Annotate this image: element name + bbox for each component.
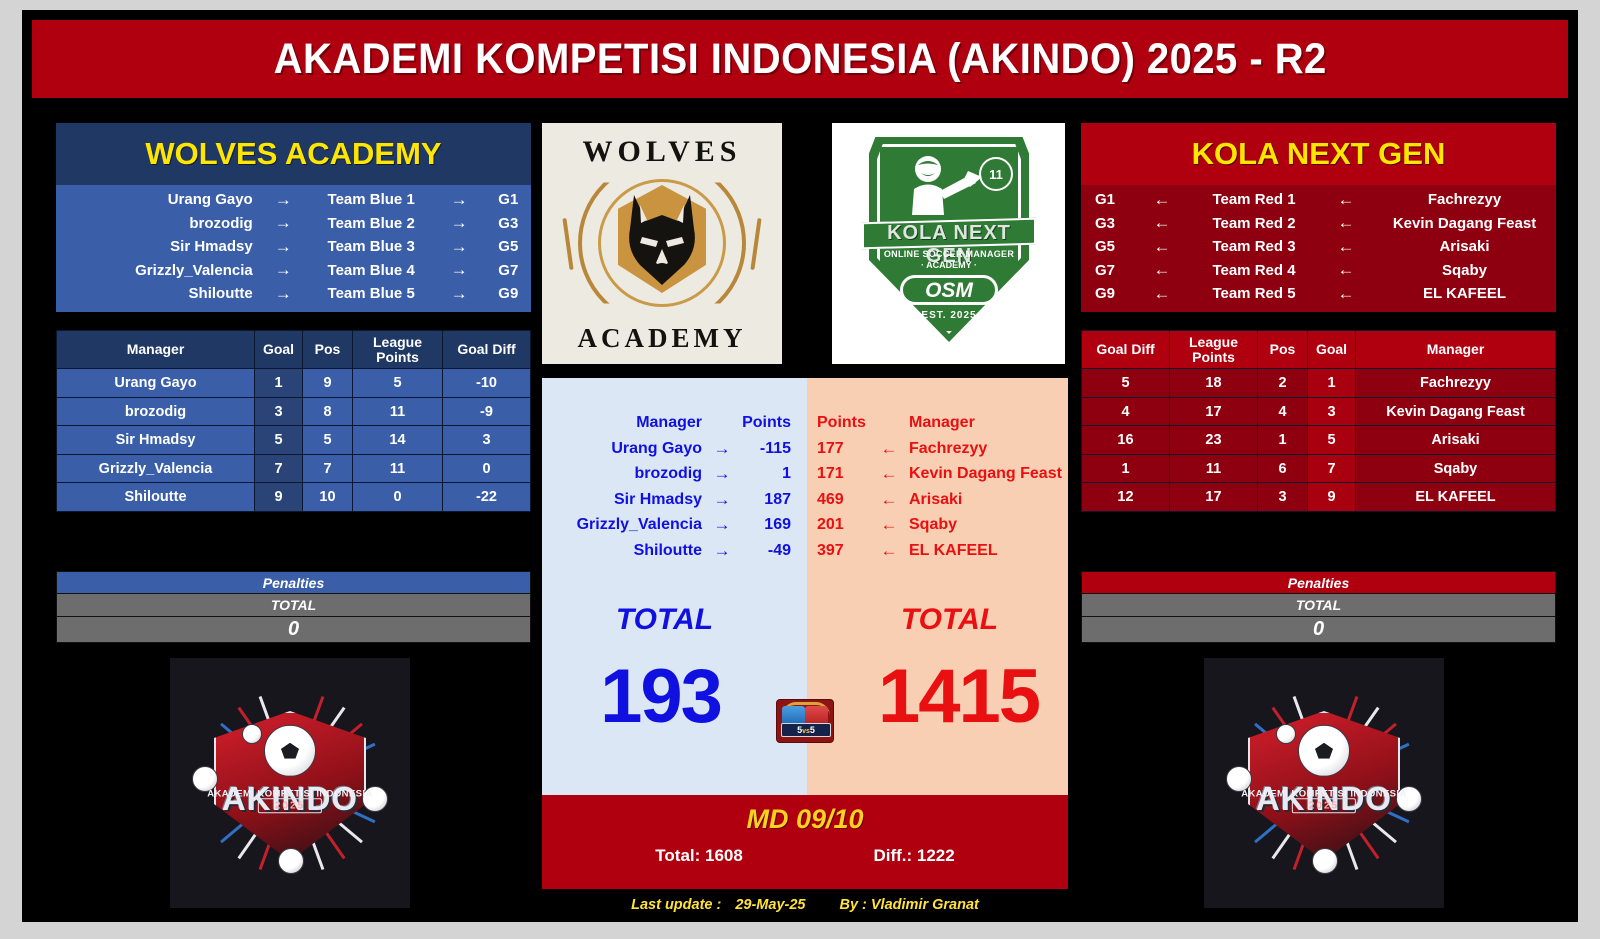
arrow-left-icon: ← — [869, 541, 909, 561]
center-left-half: Manager Points Urang Gayo → -115 brozodi… — [542, 378, 807, 795]
col-pos: Pos — [1258, 331, 1308, 369]
arrow-right-icon: → — [433, 237, 486, 257]
cell-goal-diff: 4 — [1082, 397, 1170, 426]
row-points: 187 — [742, 491, 799, 509]
row-manager: Sqaby — [909, 516, 1068, 534]
center-right-row: 201 ← Sqaby — [807, 513, 1068, 539]
arrow-right-icon: → — [433, 260, 486, 280]
lineup-row: G9 ← Team Red 5 ← EL KAFEEL — [1081, 282, 1556, 306]
cell-goal-diff: 1 — [1082, 454, 1170, 483]
cell-goal-diff: -9 — [443, 397, 531, 426]
lineup-row: Shiloutte → Team Blue 5 → G9 — [56, 282, 531, 306]
cell-manager: Fachrezyy — [1356, 369, 1556, 398]
lineup-slot: Team Blue 2 — [310, 215, 433, 232]
cell-league-points: 18 — [1170, 369, 1258, 398]
arrow-left-icon: ← — [1319, 237, 1373, 257]
cell-goal: 3 — [1308, 397, 1356, 426]
lineup-row: G5 ← Team Red 3 ← Arisaki — [1081, 235, 1556, 259]
left-total-label: TOTAL — [542, 603, 807, 637]
center-right-row: 177 ← Fachrezyy — [807, 436, 1068, 462]
center-right-row: 397 ← EL KAFEEL — [807, 538, 1068, 564]
table-row: brozodig 3 8 11 -9 — [57, 397, 531, 426]
lineup-code: G5 — [486, 238, 531, 255]
player-number-badge: 11 — [979, 157, 1013, 191]
row-points: 469 — [807, 491, 869, 509]
lineup-row: brozodig → Team Blue 2 → G3 — [56, 212, 531, 236]
lineup-row: G1 ← Team Red 1 ← Fachrezyy — [1081, 188, 1556, 212]
left-penalties-panel: Penalties TOTAL 0 — [56, 571, 531, 643]
lineup-row: G7 ← Team Red 4 ← Sqaby — [1081, 259, 1556, 283]
cell-goal-diff: -22 — [443, 483, 531, 512]
cell-goal: 5 — [1308, 426, 1356, 455]
row-points: 171 — [807, 465, 869, 483]
lineup-slot: Team Blue 1 — [310, 191, 433, 208]
lineup-slot: Team Blue 3 — [310, 238, 433, 255]
left-team-lineup-panel: WOLVES ACADEMY Urang Gayo → Team Blue 1 … — [56, 123, 531, 312]
cell-manager: Shiloutte — [57, 483, 255, 512]
arrow-left-icon: ← — [1319, 284, 1373, 304]
last-update-group: Last update : 29-May-25 — [631, 897, 805, 913]
arrow-right-icon: → — [702, 490, 742, 510]
penalties-total-value: 0 — [56, 617, 531, 643]
arrow-left-icon: ← — [869, 490, 909, 510]
cell-pos: 1 — [1258, 426, 1308, 455]
kola-next-gen-logo: 11 KOLA NEXT GEN ONLINE SOCCER MANAGER ·… — [832, 123, 1065, 364]
right-team-name: KOLA NEXT GEN — [1192, 136, 1446, 172]
cell-goal-diff: 12 — [1082, 483, 1170, 512]
lineup-manager: Sqaby — [1373, 262, 1556, 279]
lineup-code: G9 — [1081, 285, 1135, 302]
cell-manager: Sqaby — [1356, 454, 1556, 483]
col-goal-diff: Goal Diff — [443, 331, 531, 369]
arrow-right-icon: → — [257, 190, 310, 210]
logo-tick-left — [562, 218, 573, 270]
left-stats-table: Manager Goal Pos League Points Goal Diff… — [56, 330, 531, 512]
col-goal: Goal — [1308, 331, 1356, 369]
arrow-left-icon: ← — [1135, 237, 1189, 257]
col-goal-diff: Goal Diff — [1082, 331, 1170, 369]
right-team-lineup-panel: KOLA NEXT GEN G1 ← Team Red 1 ← Fachrezy… — [1081, 123, 1556, 312]
arrow-right-icon: → — [433, 284, 486, 304]
lineup-code: G3 — [1081, 215, 1135, 232]
cell-league-points: 11 — [1170, 454, 1258, 483]
arrow-left-icon: ← — [1135, 213, 1189, 233]
soccer-ball-icon — [242, 724, 262, 744]
row-manager: Grizzly_Valencia — [542, 516, 702, 534]
cell-goal-diff: 0 — [443, 454, 531, 483]
header-points: Points — [807, 414, 869, 432]
cell-pos: 8 — [303, 397, 353, 426]
lineup-manager: Urang Gayo — [56, 191, 257, 208]
row-manager: EL KAFEEL — [909, 542, 1068, 560]
cell-league-points: 17 — [1170, 483, 1258, 512]
lineup-manager: Kevin Dagang Feast — [1373, 215, 1556, 232]
last-update-value: 29-May-25 — [735, 897, 805, 913]
lineup-slot: Team Blue 5 — [310, 285, 433, 302]
col-pos: Pos — [303, 331, 353, 369]
arrow-right-icon: → — [702, 464, 742, 484]
arrow-left-icon: ← — [1135, 190, 1189, 210]
akindo-logo-inner: AKINDO AKADEMI KOMPETISI INDONESIA 2025 — [170, 658, 410, 908]
page-title: AKADEMI KOMPETISI INDONESIA (AKINDO) 202… — [273, 35, 1326, 84]
cell-goal-diff: 16 — [1082, 426, 1170, 455]
arrow-right-icon: → — [433, 213, 486, 233]
center-left-row: Sir Hmadsy → 187 — [542, 487, 807, 513]
table-row: Sir Hmadsy 5 5 14 3 — [57, 426, 531, 455]
badge-label: 5vs5 — [781, 723, 831, 737]
header-manager: Manager — [909, 414, 1068, 432]
arrow-left-icon: ← — [869, 515, 909, 535]
row-manager: Arisaki — [909, 491, 1068, 509]
matchday-stats: Total: 1608 Diff.: 1222 — [542, 846, 1068, 866]
wolf-head-icon — [620, 189, 704, 289]
row-manager: Kevin Dagang Feast — [909, 465, 1068, 483]
cell-league-points: 11 — [353, 454, 443, 483]
lineup-manager: brozodig — [56, 215, 257, 232]
cell-goal: 9 — [1308, 483, 1356, 512]
cell-manager: brozodig — [57, 397, 255, 426]
lineup-slot: Team Blue 4 — [310, 262, 433, 279]
soccer-ball-icon — [278, 848, 304, 874]
center-right-row: 469 ← Arisaki — [807, 487, 1068, 513]
soccer-ball-icon — [1276, 724, 1296, 744]
cell-pos: 7 — [303, 454, 353, 483]
author-credit: By : Vladimir Granat — [839, 897, 978, 913]
arrow-left-icon: ← — [1319, 260, 1373, 280]
row-manager: Urang Gayo — [542, 440, 702, 458]
right-stats-table: Goal Diff League Points Pos Goal Manager… — [1081, 330, 1556, 512]
lineup-code: G5 — [1081, 238, 1135, 255]
page-title-bar: AKADEMI KOMPETISI INDONESIA (AKINDO) 202… — [32, 20, 1568, 98]
cell-pos: 10 — [303, 483, 353, 512]
right-penalties-panel: Penalties TOTAL 0 — [1081, 571, 1556, 643]
center-right-half: Points Manager 177 ← Fachrezyy 171 ← Kev… — [807, 378, 1068, 795]
lineup-row: Sir Hmadsy → Team Blue 3 → G5 — [56, 235, 531, 259]
cell-pos: 6 — [1258, 454, 1308, 483]
arrow-left-icon: ← — [1135, 260, 1189, 280]
cell-goal: 7 — [1308, 454, 1356, 483]
matchday-title: MD 09/10 — [542, 795, 1068, 835]
soccer-ball-icon — [1298, 725, 1350, 777]
cell-manager: Sir Hmadsy — [57, 426, 255, 455]
logo-subtitle-2: · ACADEMY · — [869, 260, 1029, 270]
badge-vs: vs — [802, 728, 810, 735]
pointing-man-icon — [894, 153, 994, 215]
logo-top-text: WOLVES — [562, 135, 762, 169]
matchday-banner: MD 09/10 Total: 1608 Diff.: 1222 — [542, 795, 1068, 889]
logo-est-text: EST. 2025 — [869, 310, 1029, 321]
right-total-score: 1415 — [807, 653, 1068, 740]
five-vs-five-badge-icon: 5vs5 — [776, 699, 834, 743]
cell-manager: Grizzly_Valencia — [57, 454, 255, 483]
row-points: 177 — [807, 440, 869, 458]
cell-manager: Kevin Dagang Feast — [1356, 397, 1556, 426]
right-team-stats-panel: Goal Diff League Points Pos Goal Manager… — [1081, 330, 1556, 512]
row-manager: Sir Hmadsy — [542, 491, 702, 509]
center-right-row: 171 ← Kevin Dagang Feast — [807, 462, 1068, 488]
lineup-row: Urang Gayo → Team Blue 1 → G1 — [56, 188, 531, 212]
logo-subtitle-1: ONLINE SOCCER MANAGER — [869, 249, 1029, 259]
cell-manager: Urang Gayo — [57, 369, 255, 398]
soccer-ball-icon — [1312, 848, 1338, 874]
arrow-right-icon: → — [257, 237, 310, 257]
penalties-title: Penalties — [56, 571, 531, 594]
row-manager: Fachrezyy — [909, 440, 1068, 458]
penalties-total-label: TOTAL — [56, 594, 531, 617]
lineup-code: G3 — [486, 215, 531, 232]
col-goal: Goal — [255, 331, 303, 369]
cell-league-points: 14 — [353, 426, 443, 455]
penalties-total-label: TOTAL — [1081, 594, 1556, 617]
row-manager: brozodig — [542, 465, 702, 483]
col-league-points: League Points — [1170, 331, 1258, 369]
akindo-logo-year: 2025 — [1292, 798, 1356, 813]
penalties-title: Penalties — [1081, 571, 1556, 594]
center-right-header-row: Points Manager — [807, 410, 1068, 436]
table-row: 4 17 4 3 Kevin Dagang Feast — [1082, 397, 1556, 426]
arrow-left-icon: ← — [1135, 284, 1189, 304]
cell-goal: 9 — [255, 483, 303, 512]
akindo-logo-left: AKINDO AKADEMI KOMPETISI INDONESIA 2025 — [170, 658, 410, 908]
lineup-manager: EL KAFEEL — [1373, 285, 1556, 302]
cell-goal-diff: -10 — [443, 369, 531, 398]
arrow-left-icon: ← — [1319, 190, 1373, 210]
arrow-left-icon: ← — [869, 464, 909, 484]
cell-pos: 2 — [1258, 369, 1308, 398]
cell-pos: 9 — [303, 369, 353, 398]
center-left-row: Grizzly_Valencia → 169 — [542, 513, 807, 539]
lineup-slot: Team Red 3 — [1189, 238, 1319, 255]
lineup-slot: Team Red 5 — [1189, 285, 1319, 302]
header-manager: Manager — [542, 414, 702, 432]
cell-league-points: 0 — [353, 483, 443, 512]
right-total-label: TOTAL — [807, 603, 1068, 637]
left-team-name: WOLVES ACADEMY — [145, 136, 441, 172]
lineup-manager: Grizzly_Valencia — [56, 262, 257, 279]
lineup-code: G1 — [486, 191, 531, 208]
right-team-header: KOLA NEXT GEN — [1081, 123, 1556, 185]
cell-goal-diff: 3 — [443, 426, 531, 455]
arrow-right-icon: → — [702, 515, 742, 535]
row-points: -49 — [742, 542, 799, 560]
row-points: 397 — [807, 542, 869, 560]
center-left-row: Shiloutte → -49 — [542, 538, 807, 564]
table-row: 16 23 1 5 Arisaki — [1082, 426, 1556, 455]
arrow-right-icon: → — [257, 213, 310, 233]
logo-bottom-text: ACADEMY — [562, 323, 762, 354]
table-row: Shiloutte 9 10 0 -22 — [57, 483, 531, 512]
left-team-header: WOLVES ACADEMY — [56, 123, 531, 185]
lineup-manager: Fachrezyy — [1373, 191, 1556, 208]
arrow-left-icon: ← — [1319, 213, 1373, 233]
cell-manager: EL KAFEEL — [1356, 483, 1556, 512]
badge-right-count: 5 — [810, 725, 815, 735]
left-team-stats-panel: Manager Goal Pos League Points Goal Diff… — [56, 330, 531, 512]
penalties-total-value: 0 — [1081, 617, 1556, 643]
table-row: Grizzly_Valencia 7 7 11 0 — [57, 454, 531, 483]
lineup-row: Grizzly_Valencia → Team Blue 4 → G7 — [56, 259, 531, 283]
lineup-manager: Arisaki — [1373, 238, 1556, 255]
cell-league-points: 17 — [1170, 397, 1258, 426]
scoreboard-root: AKADEMI KOMPETISI INDONESIA (AKINDO) 202… — [22, 10, 1578, 922]
logo-osm-text: OSM — [900, 275, 998, 305]
right-team-lineup-list: G1 ← Team Red 1 ← Fachrezyy G3 ← Team Re… — [1081, 185, 1556, 312]
lineup-manager: Sir Hmadsy — [56, 238, 257, 255]
last-update-label: Last update : — [631, 897, 721, 913]
table-row: 5 18 2 1 Fachrezyy — [1082, 369, 1556, 398]
table-row: 12 17 3 9 EL KAFEEL — [1082, 483, 1556, 512]
cell-pos: 3 — [1258, 483, 1308, 512]
soccer-ball-icon — [264, 725, 316, 777]
lineup-code: G7 — [486, 262, 531, 279]
center-left-header-row: Manager Points — [542, 410, 807, 436]
cell-goal-diff: 5 — [1082, 369, 1170, 398]
row-points: 1 — [742, 465, 799, 483]
center-left-row: Urang Gayo → -115 — [542, 436, 807, 462]
arrow-right-icon: → — [702, 439, 742, 459]
lineup-slot: Team Red 4 — [1189, 262, 1319, 279]
col-manager: Manager — [1356, 331, 1556, 369]
arrow-right-icon: → — [257, 260, 310, 280]
cell-manager: Arisaki — [1356, 426, 1556, 455]
arrow-right-icon: → — [702, 541, 742, 561]
cell-goal: 1 — [255, 369, 303, 398]
lineup-code: G7 — [1081, 262, 1135, 279]
matchday-diff: Diff.: 1222 — [873, 846, 954, 866]
akindo-logo-right: AKINDO AKADEMI KOMPETISI INDONESIA 2025 — [1204, 658, 1444, 908]
akindo-logo-inner: AKINDO AKADEMI KOMPETISI INDONESIA 2025 — [1204, 658, 1444, 908]
row-points: 201 — [807, 516, 869, 534]
lineup-code: G1 — [1081, 191, 1135, 208]
arrow-left-icon: ← — [869, 439, 909, 459]
cell-pos: 5 — [303, 426, 353, 455]
cell-league-points: 11 — [353, 397, 443, 426]
logo-tick-right — [750, 218, 761, 270]
lineup-code: G9 — [486, 285, 531, 302]
row-manager: Shiloutte — [542, 542, 702, 560]
header-points: Points — [742, 414, 799, 432]
matchday-total: Total: 1608 — [655, 846, 743, 866]
cell-league-points: 23 — [1170, 426, 1258, 455]
cell-league-points: 5 — [353, 369, 443, 398]
arrow-right-icon: → — [257, 284, 310, 304]
lineup-slot: Team Red 1 — [1189, 191, 1319, 208]
col-league-points: League Points — [353, 331, 443, 369]
cell-goal: 7 — [255, 454, 303, 483]
center-left-row: brozodig → 1 — [542, 462, 807, 488]
cell-goal: 3 — [255, 397, 303, 426]
row-points: -115 — [742, 440, 799, 458]
col-manager: Manager — [57, 331, 255, 369]
left-team-lineup-list: Urang Gayo → Team Blue 1 → G1 brozodig →… — [56, 185, 531, 312]
left-total-score: 193 — [542, 653, 807, 740]
wolves-academy-logo: WOLVES ACADEMY — [542, 123, 782, 364]
table-header-row: Goal Diff League Points Pos Goal Manager — [1082, 331, 1556, 369]
lineup-slot: Team Red 2 — [1189, 215, 1319, 232]
akindo-logo-year: 2025 — [258, 798, 322, 813]
table-header-row: Manager Goal Pos League Points Goal Diff — [57, 331, 531, 369]
footer-bar: Last update : 29-May-25 By : Vladimir Gr… — [542, 890, 1068, 920]
cell-goal: 5 — [255, 426, 303, 455]
table-row: 1 11 6 7 Sqaby — [1082, 454, 1556, 483]
lineup-manager: Shiloutte — [56, 285, 257, 302]
table-row: Urang Gayo 1 9 5 -10 — [57, 369, 531, 398]
arrow-right-icon: → — [433, 190, 486, 210]
cell-pos: 4 — [1258, 397, 1308, 426]
row-points: 169 — [742, 516, 799, 534]
cell-goal: 1 — [1308, 369, 1356, 398]
lineup-row: G3 ← Team Red 2 ← Kevin Dagang Feast — [1081, 212, 1556, 236]
